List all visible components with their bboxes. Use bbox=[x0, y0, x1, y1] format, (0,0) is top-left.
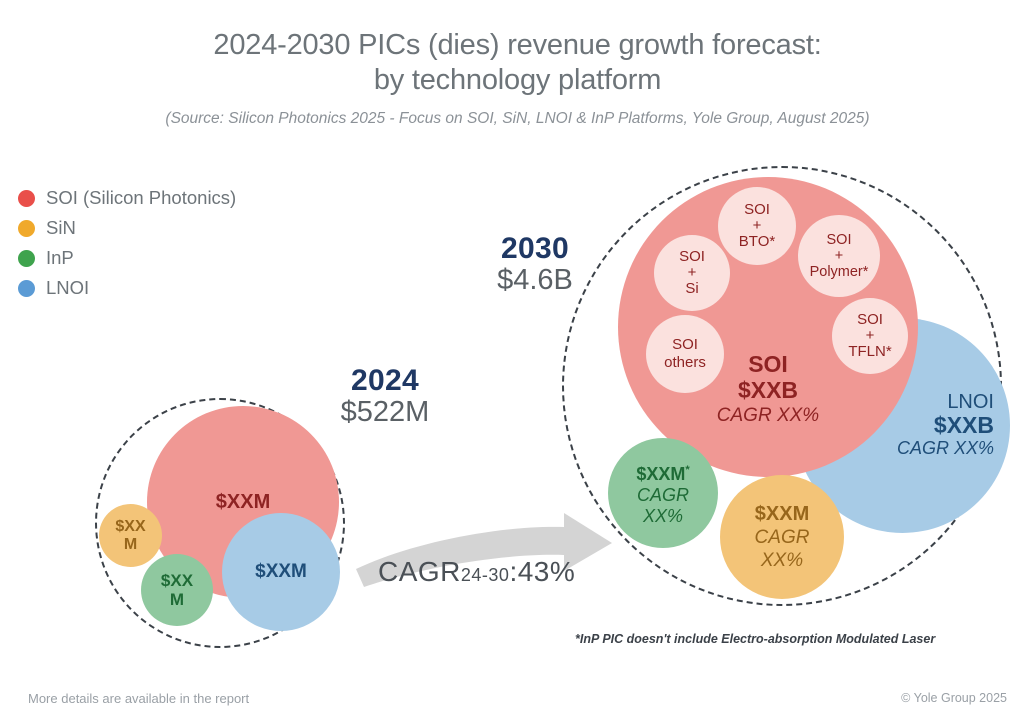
source-subtitle: (Source: Silicon Photonics 2025 - Focus … bbox=[0, 110, 1035, 128]
sub-si-line3: Si bbox=[685, 281, 698, 297]
bubble-2030-inp-amount: $XXM* bbox=[636, 460, 689, 485]
year-2024-label: 2024 $522M bbox=[300, 364, 470, 429]
infographic-canvas: 2024-2030 PICs (dies) revenue growth for… bbox=[0, 0, 1035, 725]
footer-note-left: More details are available in the report bbox=[28, 691, 249, 706]
bubble-2024-inp-amount-line2: M bbox=[170, 590, 184, 609]
year-2024-number: 2024 bbox=[300, 364, 470, 398]
footer-copyright: © Yole Group 2025 bbox=[901, 691, 1007, 705]
bubble-2030-lnoi-amount: $XXB bbox=[934, 414, 994, 437]
legend-item-lnoi[interactable]: LNOI bbox=[18, 275, 236, 301]
sub-tfln-line3: TFLN* bbox=[848, 344, 891, 360]
legend-dot-icon bbox=[18, 280, 35, 297]
bubble-2030-inp-cagr-line1: CAGR bbox=[637, 485, 689, 506]
legend-dot-icon bbox=[18, 220, 35, 237]
bubble-2030-sin-cagr-line2: XX% bbox=[761, 549, 803, 572]
bubble-2030-soi-sub-others[interactable]: SOI others bbox=[646, 315, 724, 393]
legend-dot-icon bbox=[18, 250, 35, 267]
bubble-2030-soi-sub-si[interactable]: SOI + Si bbox=[654, 235, 730, 311]
sub-tfln-line2: + bbox=[866, 328, 875, 344]
legend: SOI (Silicon Photonics) SiN InP LNOI bbox=[18, 185, 236, 305]
sub-bto-line3: BTO* bbox=[739, 234, 775, 250]
cluster-2030-group: LNOI $XXB CAGR XX% SOI $XXB CAGR XX% SOI… bbox=[540, 150, 1035, 650]
sub-polymer-line1: SOI bbox=[827, 232, 852, 248]
sub-si-line2: + bbox=[688, 265, 697, 281]
sub-si-line1: SOI bbox=[679, 249, 705, 265]
bubble-2030-soi-cagr: CAGR XX% bbox=[618, 403, 918, 429]
legend-label: LNOI bbox=[46, 277, 89, 299]
title-line-2: by technology platform bbox=[0, 63, 1035, 98]
bubble-2024-soi-amount: $XXM bbox=[216, 491, 270, 514]
inp-asterisk: * bbox=[685, 464, 689, 476]
bubble-2030-lnoi-cagr: CAGR XX% bbox=[897, 437, 994, 460]
sub-polymer-line3: Polymer* bbox=[810, 264, 869, 280]
footnote-asterisk: *InP PIC doesn't include Electro-absorpt… bbox=[575, 632, 935, 646]
bubble-2030-soi-sub-tfln[interactable]: SOI + TFLN* bbox=[832, 298, 908, 374]
sub-bto-line1: SOI bbox=[744, 202, 770, 218]
legend-dot-icon bbox=[18, 190, 35, 207]
cagr-separator: : bbox=[509, 556, 517, 587]
bubble-2030-lnoi-name: LNOI bbox=[947, 391, 994, 414]
sub-others-line1: SOI bbox=[672, 336, 698, 354]
legend-label: SOI (Silicon Photonics) bbox=[46, 187, 236, 209]
bubble-2024-lnoi[interactable]: $XXM bbox=[222, 513, 340, 631]
title-line-1: 2024-2030 PICs (dies) revenue growth for… bbox=[0, 28, 1035, 63]
bubble-2030-inp-cagr-line2: XX% bbox=[643, 506, 683, 527]
bubble-2030-inp[interactable]: $XXM* CAGR XX% bbox=[608, 438, 718, 548]
bubble-2030-sin[interactable]: $XXM CAGR XX% bbox=[720, 475, 844, 599]
sub-tfln-line1: SOI bbox=[857, 312, 883, 328]
bubble-2030-soi-sub-polymer[interactable]: SOI + Polymer* bbox=[798, 215, 880, 297]
bubble-2024-sin-amount-line2: M bbox=[124, 536, 137, 554]
bubble-2030-sin-amount: $XXM bbox=[755, 503, 809, 526]
bubble-2030-soi-sub-bto[interactable]: SOI + BTO* bbox=[718, 187, 796, 265]
sub-others-line2: others bbox=[664, 354, 706, 372]
bubble-2024-sin[interactable]: $XX M bbox=[99, 504, 162, 567]
bubble-2024-inp-amount-line1: $XX bbox=[161, 571, 193, 590]
sub-polymer-line2: + bbox=[835, 248, 843, 264]
page-title: 2024-2030 PICs (dies) revenue growth for… bbox=[0, 28, 1035, 98]
legend-label: InP bbox=[46, 247, 74, 269]
legend-item-sin[interactable]: SiN bbox=[18, 215, 236, 241]
bubble-2024-inp[interactable]: $XX M bbox=[141, 554, 213, 626]
cagr-period: 24-30 bbox=[461, 565, 510, 585]
legend-item-inp[interactable]: InP bbox=[18, 245, 236, 271]
legend-label: SiN bbox=[46, 217, 76, 239]
bubble-2024-sin-amount-line1: $XX bbox=[115, 518, 145, 536]
sub-bto-line2: + bbox=[753, 218, 762, 234]
bubble-2024-lnoi-amount: $XXM bbox=[255, 561, 307, 583]
year-2024-total: $522M bbox=[300, 396, 470, 429]
cagr-word: CAGR bbox=[378, 556, 461, 587]
bubble-2030-sin-cagr-line1: CAGR bbox=[755, 526, 810, 549]
legend-item-soi[interactable]: SOI (Silicon Photonics) bbox=[18, 185, 236, 211]
